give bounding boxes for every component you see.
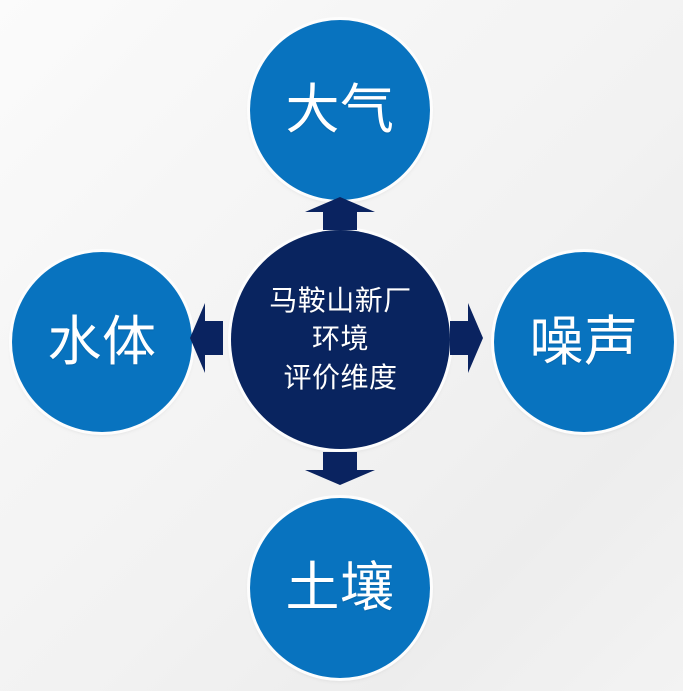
arrow-up-icon (305, 197, 375, 230)
arrow-down-icon (305, 452, 375, 485)
node-noise-label: 噪声 (530, 311, 639, 374)
node-noise[interactable]: 噪声 (494, 252, 674, 432)
node-soil-label: 土壤 (286, 557, 395, 620)
node-air[interactable]: 大气 (250, 20, 430, 200)
node-water[interactable]: 水体 (12, 252, 192, 432)
center-node-label: 马鞍山新厂 环境 评价维度 (269, 282, 412, 398)
arrow-left-icon (190, 303, 223, 373)
arrow-right-icon (450, 303, 483, 373)
diagram-canvas: 马鞍山新厂 环境 评价维度 大气 噪声 土壤 水体 (0, 0, 683, 691)
node-soil[interactable]: 土壤 (250, 498, 430, 678)
node-water-label: 水体 (48, 311, 157, 374)
center-node[interactable]: 马鞍山新厂 环境 评价维度 (231, 230, 450, 449)
node-air-label: 大气 (286, 79, 395, 142)
